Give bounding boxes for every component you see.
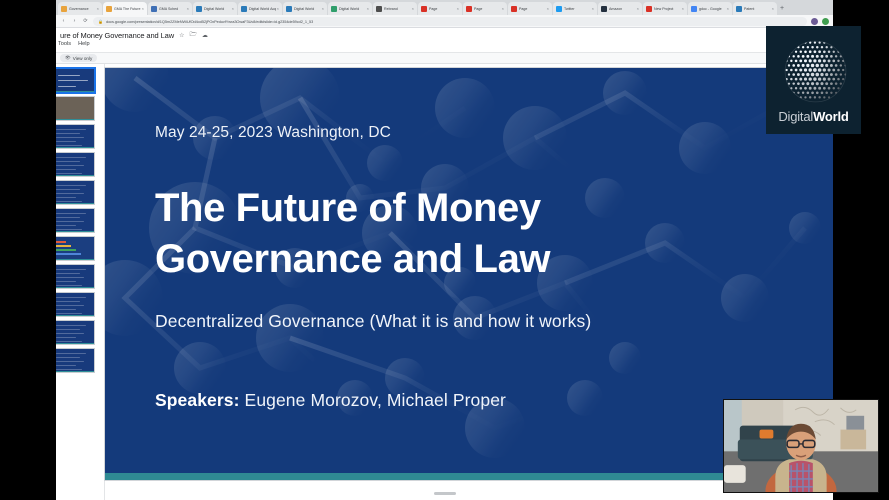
browser-tab[interactable]: Twitter× — [553, 2, 597, 15]
slide-filmstrip[interactable]: 1234567891011 — [56, 64, 105, 500]
tab-favicon-icon — [241, 6, 247, 12]
logo-dot — [827, 87, 830, 90]
thumb-text-line — [56, 325, 86, 326]
logo-dot — [799, 87, 802, 90]
logo-dot — [787, 73, 789, 75]
tab-favicon-icon — [151, 6, 157, 12]
browser-tab[interactable]: New Project× — [643, 2, 687, 15]
tab-favicon-icon — [376, 6, 382, 12]
logo-dot — [790, 69, 793, 72]
logo-dot — [813, 59, 816, 62]
thumb-chart-bar — [56, 249, 76, 251]
close-icon[interactable]: × — [547, 6, 549, 11]
logo-dot — [825, 55, 828, 58]
menu-item-tools[interactable]: Tools — [58, 41, 71, 47]
thumb-text-line — [56, 225, 76, 226]
thumb-text-line — [56, 185, 86, 186]
logo-dot — [842, 78, 844, 80]
presenter-video-feed[interactable] — [723, 399, 879, 493]
close-icon[interactable]: × — [592, 6, 594, 11]
logo-dot — [799, 51, 801, 53]
logo-dot — [832, 51, 834, 53]
slide-thumbnail[interactable] — [56, 264, 95, 289]
tab-favicon-icon — [691, 6, 697, 12]
slides-toolbar: 👁 View only — [56, 52, 833, 64]
browser-tab[interactable]: Governance× — [58, 2, 102, 15]
logo-dot — [794, 78, 797, 81]
logo-dot — [801, 64, 804, 67]
filmstrip-slide[interactable]: 7 — [56, 236, 104, 261]
slide-thumbnail[interactable] — [56, 180, 95, 205]
thumb-text-line — [56, 353, 86, 354]
tab-favicon-icon — [61, 6, 67, 12]
logo-dot — [806, 55, 809, 58]
address-bar-url: docs.google.com/presentation/d/1Q5m2ZMeN… — [106, 19, 313, 24]
thumb-text-line — [56, 129, 86, 130]
browser-tab[interactable]: Digital World Acq× — [238, 2, 282, 15]
logo-dot — [827, 59, 830, 62]
tab-title: Digital World — [339, 6, 366, 12]
browser-tab[interactable]: Page× — [463, 2, 507, 15]
document-title[interactable]: ure of Money Governance and Law — [60, 31, 174, 40]
reload-icon[interactable]: ⟳ — [82, 18, 89, 25]
thumb-accent-bar — [56, 343, 94, 345]
logo-dot — [796, 73, 799, 76]
logo-dot — [820, 46, 822, 48]
thumb-text-line — [56, 141, 76, 142]
thumb-text-line — [56, 213, 86, 214]
logo-dot — [818, 59, 821, 62]
close-icon[interactable]: × — [232, 6, 234, 11]
close-icon[interactable]: × — [277, 6, 279, 11]
logo-dot — [830, 82, 833, 85]
logo-dot — [834, 64, 837, 67]
logo-dot — [785, 69, 787, 71]
logo-word-digital: Digital — [778, 109, 813, 124]
close-icon[interactable]: × — [187, 6, 189, 11]
browser-tab[interactable]: Page× — [508, 2, 552, 15]
logo-dot — [839, 83, 841, 85]
forward-arrow-icon[interactable]: › — [71, 18, 78, 25]
logo-dot — [823, 96, 825, 98]
thumb-text-line — [56, 193, 84, 194]
thumb-text-line — [58, 80, 88, 81]
slide-speakers-names: Eugene Morozov, Michael Proper — [240, 390, 506, 410]
cloud-saved-icon[interactable]: ☁ — [202, 32, 208, 39]
tab-title: Page — [429, 6, 456, 12]
filmstrip-slide[interactable]: 10 — [56, 320, 104, 345]
tab-favicon-icon — [286, 6, 292, 12]
close-icon[interactable]: × — [97, 6, 99, 11]
new-tab-button[interactable]: + — [780, 2, 784, 15]
thumb-text-line — [56, 329, 80, 330]
slide-thumbnail[interactable] — [56, 236, 95, 261]
letterbox-left — [0, 0, 56, 500]
logo-dot — [842, 87, 844, 89]
logo-dot — [811, 46, 813, 48]
webcam-image — [724, 400, 878, 493]
close-icon[interactable]: × — [727, 6, 729, 11]
logo-dot — [801, 55, 804, 58]
browser-tab[interactable]: Rebrand× — [373, 2, 417, 15]
thumb-text-line — [56, 337, 76, 338]
logo-dot — [794, 51, 796, 53]
logo-dot — [799, 42, 801, 44]
logo-dot — [820, 55, 823, 58]
close-icon[interactable]: × — [142, 6, 144, 11]
thumb-text-line — [56, 277, 84, 278]
close-icon[interactable]: × — [412, 6, 414, 11]
star-icon[interactable]: ☆ — [179, 32, 184, 39]
slide-thumbnail[interactable] — [56, 96, 95, 121]
thumb-chart-bar — [56, 253, 81, 255]
thumb-accent-bar — [56, 315, 94, 317]
logo-dot — [804, 87, 807, 90]
logo-dot — [801, 73, 804, 76]
filmstrip-slide[interactable]: 3 — [56, 124, 104, 149]
logo-dot — [813, 87, 816, 90]
thumb-text-line — [56, 217, 80, 218]
digital-world-logo-overlay: DigitalWorld — [766, 26, 861, 134]
thumb-chart-bar — [56, 241, 66, 243]
tab-favicon-icon — [331, 6, 337, 12]
close-icon[interactable]: × — [457, 6, 459, 11]
filmstrip-slide[interactable]: 6 — [56, 208, 104, 233]
thumb-text-line — [56, 309, 76, 310]
slide-heading: The Future of Money Governance and Law — [155, 183, 550, 285]
thumb-text-line — [56, 169, 76, 170]
back-arrow-icon[interactable]: ‹ — [60, 18, 67, 25]
logo-dot — [823, 50, 826, 53]
slide-speakers-label: Speakers: — [155, 390, 240, 410]
tab-favicon-icon — [511, 6, 517, 12]
thumb-text-line — [56, 365, 76, 366]
tab-title: New Project — [654, 6, 681, 12]
logo-dot — [837, 69, 840, 72]
tab-title: GMA The Future of Money — [114, 6, 141, 12]
logo-dot — [808, 77, 811, 80]
thumb-accent-bar — [56, 203, 94, 205]
logo-dot — [815, 73, 819, 77]
close-icon[interactable]: × — [682, 6, 684, 11]
logo-dot — [820, 73, 823, 76]
slide-date-location: May 24-25, 2023 Washington, DC — [155, 124, 391, 142]
close-icon[interactable]: × — [367, 6, 369, 11]
logo-dot — [818, 87, 821, 90]
logo-dot — [817, 77, 820, 80]
thumb-text-line — [56, 157, 86, 158]
logo-dot — [810, 82, 813, 85]
logo-dot — [809, 96, 811, 98]
tab-title: Page — [519, 6, 546, 12]
slide-thumbnail[interactable] — [56, 348, 95, 373]
filmstrip-slide[interactable]: 4 — [56, 152, 104, 177]
logo-dot — [792, 55, 794, 57]
thumb-accent-bar — [56, 287, 94, 289]
slide-thumbnail[interactable] — [56, 68, 95, 93]
thumb-text-line — [56, 273, 80, 274]
screen-share-frame: Governance×GMA The Future of Money×GMA S… — [0, 0, 889, 500]
logo-dot — [818, 50, 821, 53]
browser-window: Governance×GMA The Future of Money×GMA S… — [56, 0, 833, 500]
logo-dot — [806, 64, 809, 67]
tab-favicon-icon — [106, 6, 112, 12]
browser-tab[interactable]: Digital World× — [193, 2, 237, 15]
logo-dot — [797, 92, 799, 94]
move-to-folder-icon[interactable]: 🗁 — [189, 30, 196, 40]
logo-dot — [810, 64, 813, 67]
logo-dot — [794, 69, 797, 72]
logo-dot — [787, 64, 789, 66]
logo-dot — [811, 91, 814, 94]
thumb-text-line — [56, 357, 80, 358]
menu-item-help[interactable]: Help — [78, 41, 90, 47]
close-icon[interactable]: × — [772, 6, 774, 11]
filmstrip-slide[interactable]: 8 — [56, 264, 104, 289]
logo-dot — [810, 73, 814, 77]
slides-editor-body: 1234567891011 — [56, 64, 833, 500]
tab-title: GMA Sched — [159, 6, 186, 12]
tab-title: Digital World — [204, 6, 231, 12]
tab-favicon-icon — [646, 6, 652, 12]
logo-dot — [830, 55, 833, 58]
logo-dot — [842, 69, 844, 71]
logo-dot — [803, 68, 806, 71]
lock-icon: 🔒 — [98, 19, 103, 24]
logo-dot — [792, 73, 795, 76]
logo-dot — [792, 64, 795, 67]
hexagon-sphere-globe-icon — [776, 32, 852, 108]
logo-dot — [794, 87, 796, 89]
logo-dot — [801, 82, 804, 85]
logo-dot — [813, 96, 815, 98]
logo-dot — [834, 82, 837, 85]
logo-dot — [820, 82, 823, 85]
tab-title: Patent — [744, 6, 771, 12]
thumb-text-line — [56, 161, 80, 162]
logo-dot — [834, 73, 837, 76]
logo-dot — [799, 78, 802, 81]
filmstrip-slide[interactable]: 2 — [56, 96, 104, 121]
tab-title: Rebrand — [384, 6, 411, 12]
tab-favicon-icon — [556, 6, 562, 12]
logo-dot — [822, 68, 825, 71]
thumb-accent-bar — [56, 231, 94, 233]
logo-dot — [829, 64, 832, 67]
logo-dot — [806, 82, 809, 85]
thumb-accent-bar — [56, 147, 94, 149]
slide-subtitle: Decentralized Governance (What it is and… — [155, 311, 591, 332]
thumb-text-line — [58, 75, 80, 76]
browser-tab[interactable]: gdoc - Google× — [688, 2, 732, 15]
logo-dot — [837, 78, 840, 81]
thumb-text-line — [56, 333, 84, 334]
slide-thumbnail[interactable] — [56, 124, 95, 149]
logo-dot — [813, 68, 817, 72]
logo-dot — [815, 82, 818, 85]
logo-dot — [808, 87, 811, 90]
logo-dot — [797, 64, 800, 67]
view-only-badge[interactable]: 👁 View only — [60, 54, 97, 62]
logo-dot — [832, 60, 835, 63]
browser-tab-strip[interactable]: Governance×GMA The Future of Money×GMA S… — [56, 0, 833, 15]
address-bar[interactable]: 🔒 docs.google.com/presentation/d/1Q5m2ZM… — [93, 17, 807, 26]
thumb-text-line — [56, 361, 84, 362]
logo-dot — [801, 46, 803, 48]
thumb-accent-bar — [56, 91, 94, 93]
logo-dot — [839, 64, 841, 66]
logo-dot — [794, 60, 797, 63]
logo-dot — [797, 82, 800, 85]
logo-dot — [813, 42, 815, 44]
logo-dot — [801, 92, 803, 94]
thumb-accent-bar — [56, 371, 94, 373]
logo-dot — [813, 50, 816, 53]
extension-icon-2[interactable] — [822, 18, 829, 25]
document-title-row: ure of Money Governance and Law ☆ 🗁 ☁ — [56, 28, 833, 40]
logo-dot — [808, 59, 811, 62]
logo-dot — [804, 50, 807, 53]
thumb-text-line — [56, 137, 84, 138]
logo-dot — [827, 68, 830, 71]
slide-thumbnail[interactable] — [56, 208, 95, 233]
thumb-text-line — [56, 269, 86, 270]
tab-favicon-icon — [421, 6, 427, 12]
logo-dot — [820, 64, 823, 67]
thumb-text-line — [56, 301, 80, 302]
logo-dot — [815, 91, 818, 94]
logo-dot — [827, 50, 830, 53]
logo-dot — [832, 78, 835, 81]
tab-title: Twitter — [564, 6, 591, 12]
browser-tab[interactable]: Digital World× — [328, 2, 372, 15]
browser-tab[interactable]: Page× — [418, 2, 462, 15]
tab-title: Digital World — [294, 6, 321, 12]
logo-dot — [837, 60, 839, 62]
logo-dot — [822, 78, 825, 81]
logo-dot — [803, 59, 806, 62]
tab-favicon-icon — [736, 6, 742, 12]
logo-dot — [799, 68, 802, 71]
close-icon[interactable]: × — [502, 6, 504, 11]
filmstrip-slide[interactable]: 1 — [56, 68, 104, 93]
logo-dot — [827, 78, 830, 81]
thumb-text-line — [56, 221, 84, 222]
logo-dot — [815, 64, 818, 67]
logo-dot — [827, 42, 829, 44]
thumb-text-line — [56, 133, 80, 134]
view-only-label: View only — [73, 56, 93, 61]
browser-tab[interactable]: GMA Sched× — [148, 2, 192, 15]
logo-dot — [832, 87, 834, 89]
panel-drag-handle[interactable] — [434, 492, 456, 495]
filmstrip-slide[interactable]: 5 — [56, 180, 104, 205]
logo-dot — [813, 77, 816, 80]
logo-dot — [825, 46, 827, 48]
slide-thumbnail[interactable] — [56, 152, 95, 177]
tab-favicon-icon — [601, 6, 607, 12]
logo-dot — [811, 55, 814, 58]
logo-dot — [844, 83, 846, 85]
logo-dot — [806, 92, 809, 95]
logo-dot — [825, 64, 828, 67]
slides-header: ure of Money Governance and Law ☆ 🗁 ☁ To… — [56, 28, 833, 52]
tab-title: Page — [474, 6, 501, 12]
thumb-text-line — [56, 165, 84, 166]
logo-dot — [825, 92, 828, 95]
logo-dot — [803, 78, 806, 81]
logo-dot — [839, 73, 841, 75]
logo-dot — [790, 60, 792, 62]
logo-dot — [818, 96, 820, 98]
close-icon[interactable]: × — [322, 6, 324, 11]
tab-title: Governance — [69, 6, 96, 12]
logo-dot — [795, 96, 797, 98]
logo-dot — [820, 91, 823, 94]
logo-dot — [835, 46, 837, 48]
logo-dot — [837, 87, 839, 89]
logo-dot — [815, 55, 818, 58]
thumb-text-line — [56, 281, 76, 282]
logo-dot — [816, 46, 818, 48]
thumb-accent-bar — [56, 119, 94, 121]
tab-title: Amazon — [609, 6, 636, 12]
logo-dot — [829, 73, 832, 76]
close-icon[interactable]: × — [637, 6, 639, 11]
logo-word-world: World — [813, 109, 849, 124]
logo-dot — [799, 59, 802, 62]
tab-title: gdoc - Google — [699, 6, 726, 12]
logo-dot — [825, 73, 828, 76]
logo-dot — [830, 92, 832, 94]
slide-thumbnail[interactable] — [56, 320, 95, 345]
logo-dot — [797, 55, 800, 58]
thumb-text-line — [56, 189, 80, 190]
browser-tab[interactable]: Amazon× — [598, 2, 642, 15]
logo-dot — [804, 96, 806, 98]
logo-dot — [790, 78, 792, 80]
eye-icon: 👁 — [65, 55, 71, 61]
logo-dot — [822, 59, 825, 62]
thumb-accent-bar — [56, 175, 94, 177]
thumb-text-line — [56, 197, 76, 198]
thumb-text-line — [56, 305, 84, 306]
slide-speakers: Speakers: Eugene Morozov, Michael Proper — [155, 390, 506, 411]
logo-dot — [808, 50, 811, 53]
filmstrip-slide[interactable]: 11 — [56, 348, 104, 373]
slide-thumbnail[interactable] — [56, 292, 95, 317]
browser-tab[interactable]: Digital World× — [283, 2, 327, 15]
logo-dot — [825, 82, 828, 85]
browser-toolbar: ‹ › ⟳ 🔒 docs.google.com/presentation/d/1… — [56, 15, 833, 28]
logo-dot — [808, 68, 811, 71]
logo-dot — [822, 87, 825, 90]
logo-dot — [806, 46, 808, 48]
thumb-text-line — [56, 297, 86, 298]
extension-icon-1[interactable] — [811, 18, 818, 25]
thumb-text-line — [58, 86, 76, 87]
thumb-accent-bar — [56, 259, 94, 261]
logo-dot — [834, 55, 836, 57]
logo-dot — [792, 82, 794, 84]
filmstrip-slide[interactable]: 9 — [56, 292, 104, 317]
browser-tab[interactable]: GMA The Future of Money× — [103, 2, 147, 15]
tab-favicon-icon — [196, 6, 202, 12]
browser-tab[interactable]: Patent× — [733, 2, 777, 15]
menu-bar[interactable]: Tools Help — [56, 40, 833, 47]
logo-dot — [806, 73, 809, 76]
logo-dot — [817, 68, 821, 72]
